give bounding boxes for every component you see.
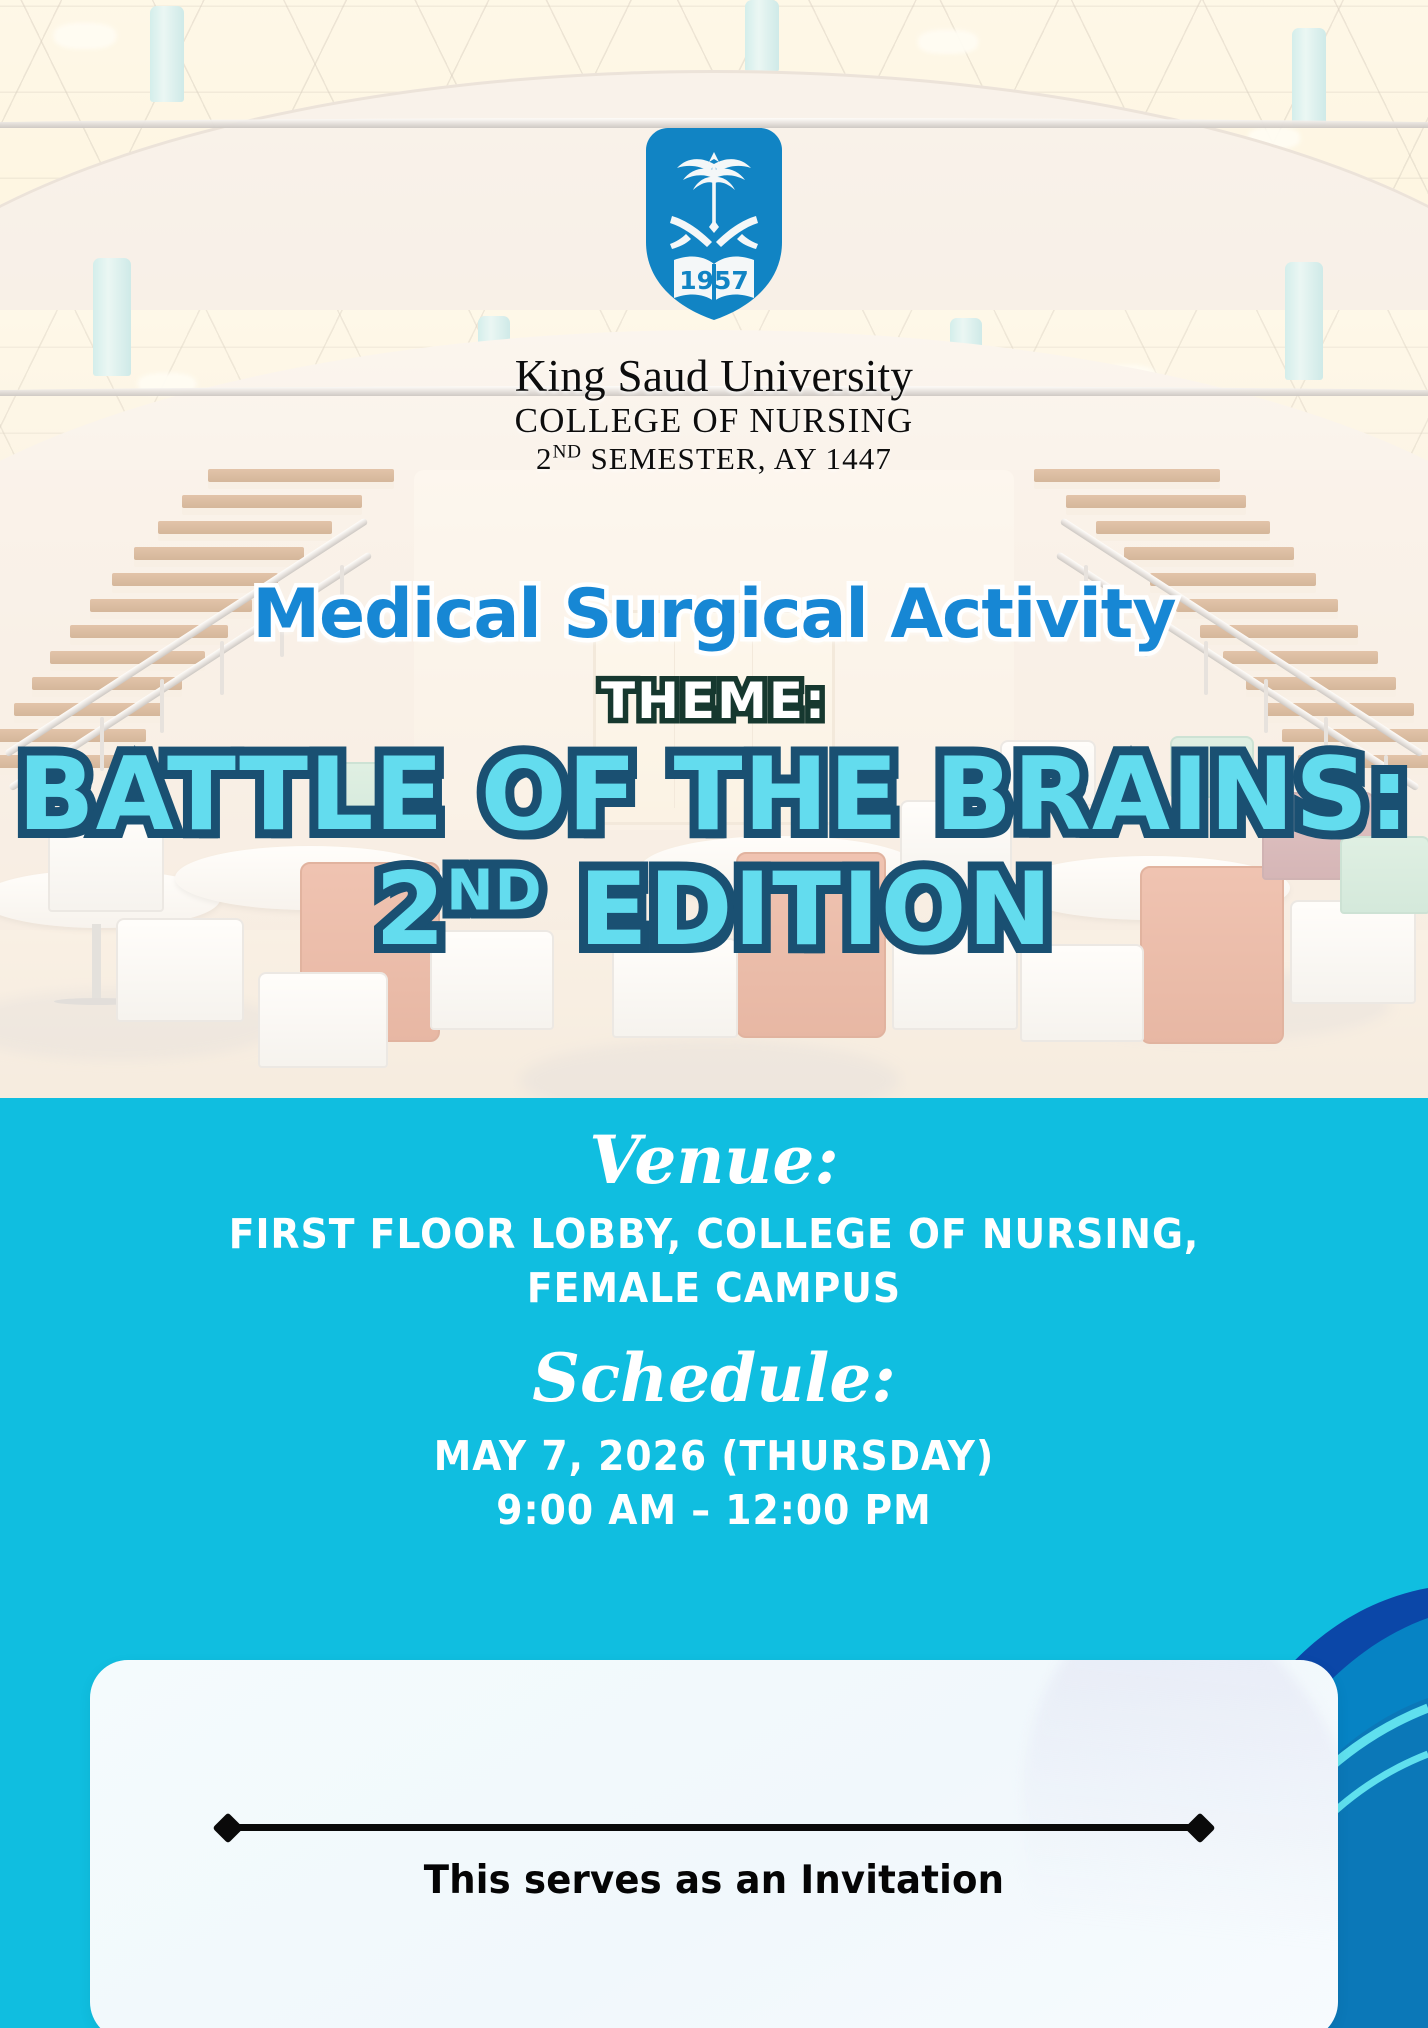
edition-ordinal-suffix: ND xyxy=(446,857,542,923)
diamond-end-divider-icon xyxy=(228,1824,1200,1831)
venue-label: Venue: xyxy=(0,1126,1428,1195)
schedule-label: Schedule: xyxy=(0,1344,1428,1413)
semester-rest: SEMESTER, AY 1447 xyxy=(582,441,892,476)
edition-number: 2 xyxy=(375,850,446,968)
ksu-logo: 1957 xyxy=(642,124,786,329)
university-name: King Saud University xyxy=(0,352,1428,401)
venue-line-1: FIRST FLOOR LOBBY, COLLEGE OF NURSING, xyxy=(57,1207,1371,1261)
invitation-card: This serves as an Invitation xyxy=(90,1660,1338,2028)
schedule-date: MAY 7, 2026 (THURSDAY) xyxy=(57,1429,1371,1483)
college-name: COLLEGE OF NURSING xyxy=(0,401,1428,442)
venue-line-2: FEMALE CAMPUS xyxy=(57,1261,1371,1315)
card-sheen xyxy=(970,1660,1338,2028)
edition-word: EDITION xyxy=(543,850,1053,968)
theme-title-line1: BATTLE OF THE BRAINS: xyxy=(0,745,1428,844)
schedule-time: 9:00 AM – 12:00 PM xyxy=(57,1483,1371,1537)
activity-title: Medical Surgical Activity xyxy=(0,575,1428,654)
venue-schedule-text: Venue: FIRST FLOOR LOBBY, COLLEGE OF NUR… xyxy=(0,1098,1428,1537)
theme-title: BATTLE OF THE BRAINS: 2ND EDITION xyxy=(0,745,1428,959)
institution-header: King Saud University COLLEGE OF NURSING … xyxy=(0,352,1428,478)
ksu-shield-crest-icon: 1957 xyxy=(642,124,786,324)
founded-year-text: 1957 xyxy=(679,266,749,295)
theme-title-line2: 2ND EDITION xyxy=(0,860,1428,959)
theme-label: THEME: xyxy=(0,672,1428,730)
semester-number: 2 xyxy=(536,441,553,476)
poster-canvas: 1957 King Saud University COLLEGE OF NUR… xyxy=(0,0,1428,2028)
semester-ordinal-suffix: ND xyxy=(553,442,582,463)
semester-line: 2ND SEMESTER, AY 1447 xyxy=(0,441,1428,478)
invitation-note: This serves as an Invitation xyxy=(121,1858,1307,1903)
